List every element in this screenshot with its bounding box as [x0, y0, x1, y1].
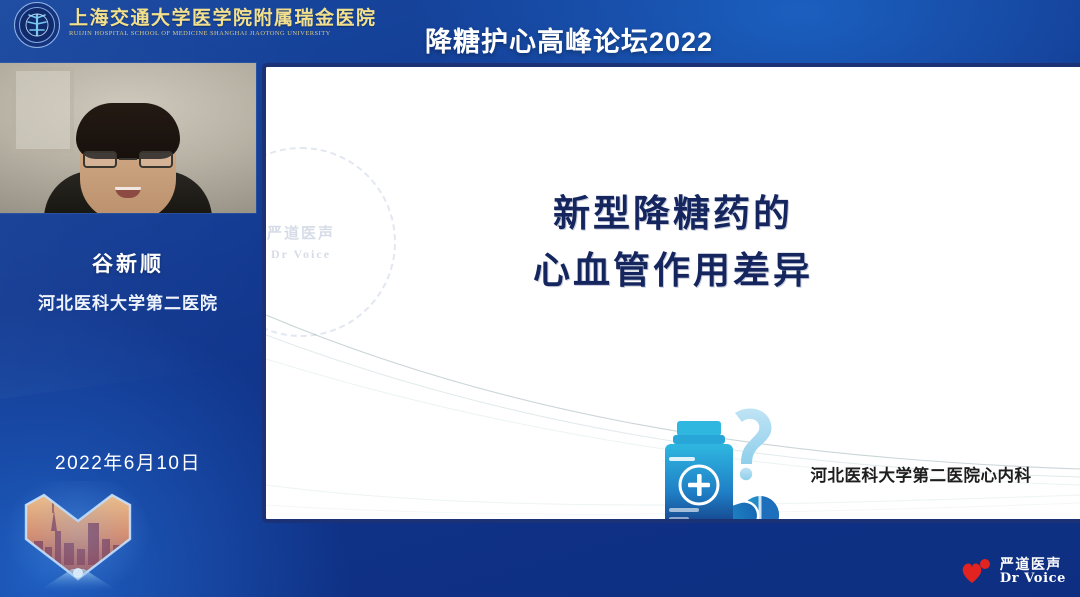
speaker-affiliation: 河北医科大学第二医院 [0, 289, 256, 314]
video-wall-frame [12, 67, 74, 153]
speaker-video-tile[interactable] [0, 63, 256, 213]
hospital-logo-en: RUIJIN HOSPITAL SCHOOL OF MEDICINE SHANG… [69, 31, 377, 38]
slide-title: 新型降糖药的 心血管作用差异 [266, 185, 1080, 300]
slide-author: 谷新顺 [766, 515, 1076, 523]
heart-skyline-badge-icon [8, 487, 148, 592]
event-date: 2022年6月10日 [0, 448, 256, 475]
speaker-name: 谷新顺 [0, 248, 256, 278]
slide-title-line2: 心血管作用差异 [266, 242, 1080, 299]
bottle-icon [665, 421, 733, 523]
webinar-stage: 上海交通大学医学院附属瑞金医院 RUIJIN HOSPITAL SCHOOL O… [0, 0, 1080, 597]
slide-organization: 河北医科大学第二医院心内科 [766, 462, 1076, 486]
brand-name-cn: 严道医声 [1000, 556, 1066, 572]
slide-title-line1: 新型降糖药的 [266, 185, 1080, 242]
video-person-glasses-icon [83, 151, 173, 169]
header-bar: 上海交通大学医学院附属瑞金医院 RUIJIN HOSPITAL SCHOOL O… [0, 0, 1080, 58]
presentation-slide[interactable]: 严道医声 Dr Voice 新型降糖药的 心血管作用差异 [262, 63, 1080, 523]
hospital-logo-cn: 上海交通大学医学院附属瑞金医院 [69, 9, 377, 28]
hospital-crest-icon [14, 2, 60, 48]
crest-tree-icon [22, 10, 52, 40]
dr-voice-heart-icon [961, 558, 993, 584]
dr-voice-brand: 严道医声 Dr Voice [961, 556, 1066, 587]
event-title: 降糖护心高峰论坛2022 [425, 20, 713, 59]
hospital-logo: 上海交通大学医学院附属瑞金医院 RUIJIN HOSPITAL SCHOOL O… [14, 2, 377, 48]
brand-name-en: Dr Voice [1000, 572, 1066, 587]
